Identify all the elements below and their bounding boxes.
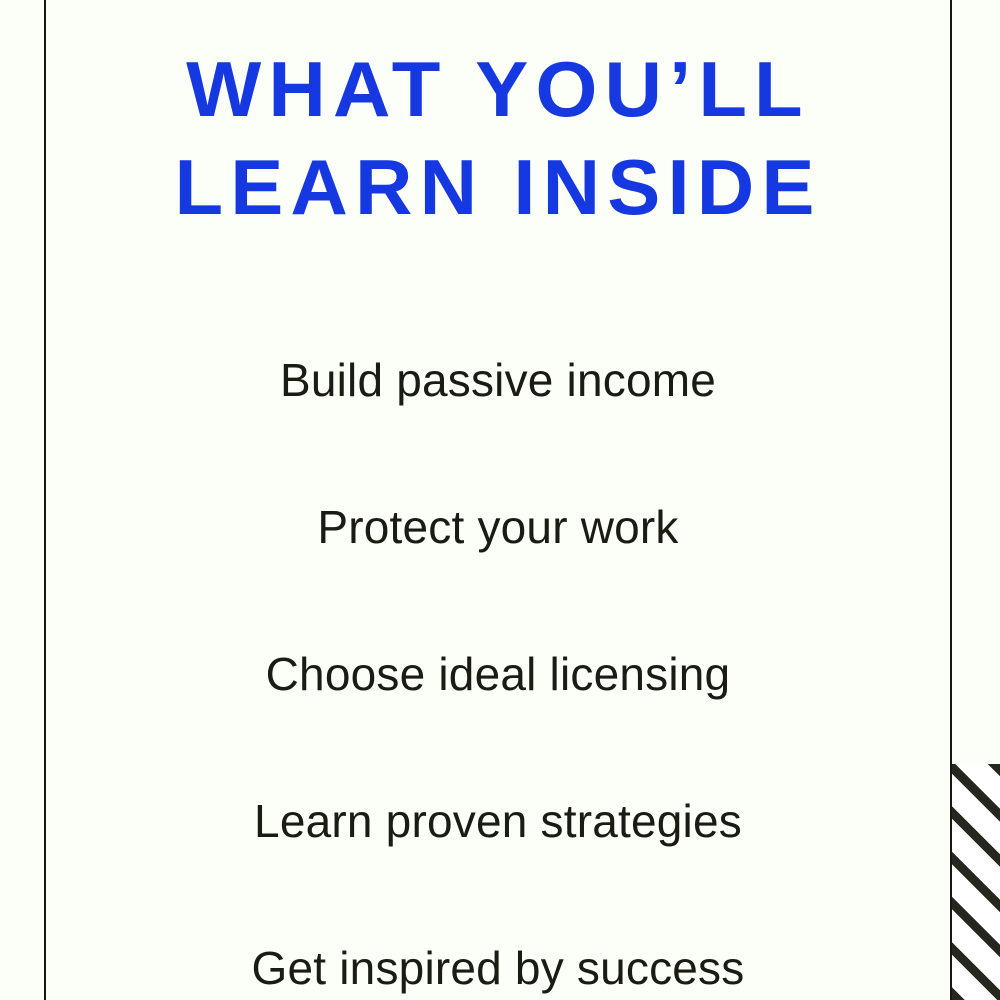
list-item: Get inspired by success <box>46 939 950 997</box>
list-item: Learn proven strategies <box>46 792 950 850</box>
page-title-line-2: LEARN INSIDE <box>37 138 959 236</box>
poster-content: WHAT YOU’LL LEARN INSIDE Build passive i… <box>46 0 950 1000</box>
page-title-line-1: WHAT YOU’LL <box>37 40 959 138</box>
poster-canvas: WHAT YOU’LL LEARN INSIDE Build passive i… <box>0 0 1000 1000</box>
list-item: Choose ideal licensing <box>46 645 950 703</box>
list-item: Protect your work <box>46 498 950 556</box>
page-title: WHAT YOU’LL LEARN INSIDE <box>37 40 959 236</box>
diagonal-stripes-decoration <box>952 764 1000 1000</box>
learn-list: Build passive income Protect your work C… <box>46 351 950 997</box>
list-item: Build passive income <box>46 351 950 409</box>
